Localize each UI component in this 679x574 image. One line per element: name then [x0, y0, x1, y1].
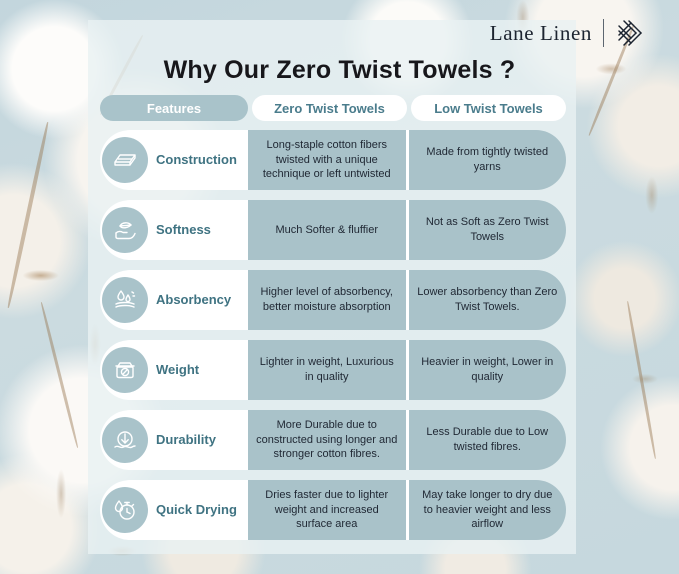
folded-towel-icon — [102, 137, 148, 183]
infographic-screen: Lane Linen Why Our Zero Twist Towels ? F… — [0, 0, 679, 574]
brand-name: Lane Linen — [490, 21, 592, 46]
zero-twist-cell: Long-staple cotton fibers twisted with a… — [248, 130, 409, 190]
zero-twist-cell: Higher level of absorbency, better moist… — [248, 270, 409, 330]
kitchen-scale-icon — [102, 347, 148, 393]
feature-label-cell: Softness — [100, 200, 248, 260]
woven-weave-icon — [615, 18, 645, 48]
low-twist-cell: Lower absorbency than Zero Twist Towels. — [409, 270, 567, 330]
table-row: Construction Long-staple cotton fibers t… — [100, 130, 566, 190]
header-low-twist-towels: Low Twist Towels — [411, 95, 566, 121]
table-header-row: Features Zero Twist Towels Low Twist Tow… — [100, 95, 566, 121]
feature-label: Softness — [156, 223, 211, 238]
low-twist-cell: Less Durable due to Low twisted fibres. — [409, 410, 567, 470]
low-twist-cell: May take longer to dry due to heavier we… — [409, 480, 567, 540]
feature-label: Durability — [156, 433, 216, 448]
low-twist-cell: Made from tightly twisted yarns — [409, 130, 567, 190]
zero-twist-cell: More Durable due to constructed using lo… — [248, 410, 409, 470]
brand-logo: Lane Linen — [490, 18, 645, 48]
droplet-stopwatch-icon — [102, 487, 148, 533]
zero-twist-cell: Much Softer & fluffier — [248, 200, 409, 260]
feature-label: Quick Drying — [156, 503, 237, 518]
feature-label-cell: Quick Drying — [100, 480, 248, 540]
table-row: Absorbency Higher level of absorbency, b… — [100, 270, 566, 330]
feature-label-cell: Construction — [100, 130, 248, 190]
feather-in-hand-icon — [102, 207, 148, 253]
feature-label: Weight — [156, 363, 199, 378]
feature-label: Absorbency — [156, 293, 231, 308]
water-droplets-icon — [102, 277, 148, 323]
feature-label-cell: Weight — [100, 340, 248, 400]
header-features: Features — [100, 95, 248, 121]
header-zero-twist-towels: Zero Twist Towels — [252, 95, 407, 121]
page-title: Why Our Zero Twist Towels ? — [0, 56, 679, 85]
table-row: Durability More Durable due to construct… — [100, 410, 566, 470]
logo-divider — [603, 19, 604, 47]
feature-label-cell: Durability — [100, 410, 248, 470]
zero-twist-cell: Lighter in weight, Luxurious in quality — [248, 340, 409, 400]
table-row: Softness Much Softer & fluffier Not as S… — [100, 200, 566, 260]
low-twist-cell: Not as Soft as Zero Twist Towels — [409, 200, 567, 260]
table-row: Weight Lighter in weight, Luxurious in q… — [100, 340, 566, 400]
table-row: Quick Drying Dries faster due to lighter… — [100, 480, 566, 540]
feature-label-cell: Absorbency — [100, 270, 248, 330]
comparison-table: Features Zero Twist Towels Low Twist Tow… — [100, 95, 566, 550]
zero-twist-cell: Dries faster due to lighter weight and i… — [248, 480, 409, 540]
feature-label: Construction — [156, 153, 237, 168]
arrow-down-circle-icon — [102, 417, 148, 463]
low-twist-cell: Heavier in weight, Lower in quality — [409, 340, 567, 400]
